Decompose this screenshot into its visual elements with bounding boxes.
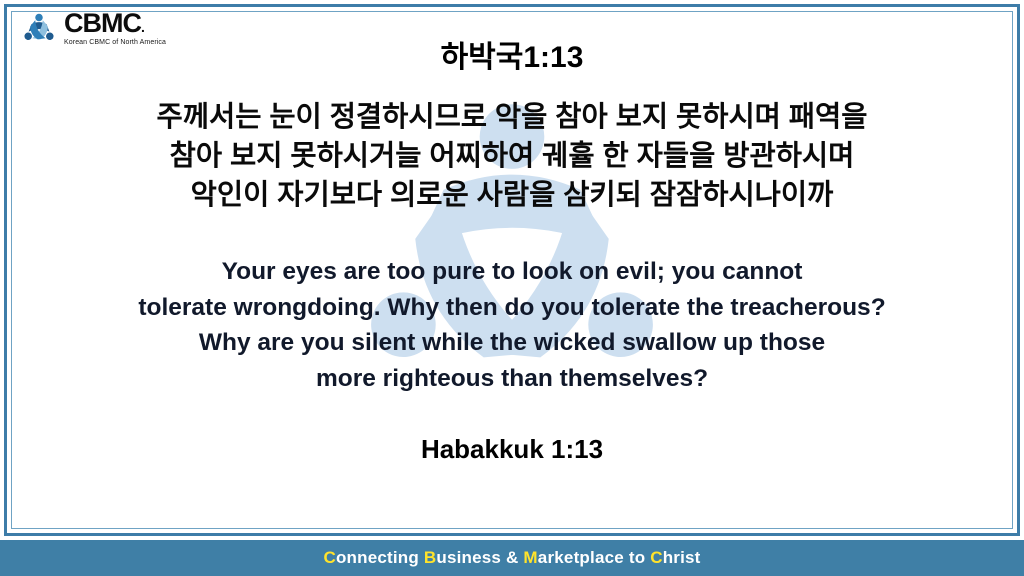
english-line: Your eyes are too pure to look on evil; … [8, 254, 1016, 290]
footer-word: hrist [663, 548, 701, 567]
footer-word: usiness & [436, 548, 523, 567]
english-line: Why are you silent while the wicked swal… [8, 325, 1016, 361]
verse-text-korean: 주께서는 눈이 정결하시므로 악을 참아 보지 못하시며 패역을 참아 보지 못… [0, 98, 1024, 214]
footer-initial: C [650, 548, 662, 567]
cbmc-logo: CBMC. Korean CBMC of North America [18, 10, 166, 50]
footer-tagline: Connecting Business & Marketplace to Chr… [323, 548, 700, 568]
korean-line: 악인이 자기보다 의로운 사람을 삼키되 잠잠하시나이까 [22, 176, 1002, 215]
english-line: more righteous than themselves? [8, 361, 1016, 397]
footer-word: arketplace to [538, 548, 650, 567]
footer-initial: C [323, 548, 335, 567]
footer-word: onnecting [336, 548, 424, 567]
slide-content: 하박국1:13 주께서는 눈이 정결하시므로 악을 참아 보지 못하시며 패역을… [0, 0, 1024, 465]
slide: CBMC. Korean CBMC of North America 하박국1:… [0, 0, 1024, 576]
cbmc-wordmark: CBMC. [64, 11, 166, 37]
english-line: tolerate wrongdoing. Why then do you tol… [8, 290, 1016, 326]
verse-attribution: Habakkuk 1:13 [0, 434, 1024, 465]
footer-bar: Connecting Business & Marketplace to Chr… [0, 540, 1024, 576]
cbmc-logo-subtitle: Korean CBMC of North America [64, 39, 166, 46]
verse-text-english: Your eyes are too pure to look on evil; … [0, 254, 1024, 396]
cbmc-wordmark-text: CBMC [64, 8, 141, 38]
footer-initial: M [523, 548, 537, 567]
korean-line: 주께서는 눈이 정결하시므로 악을 참아 보지 못하시며 패역을 [22, 98, 1002, 137]
cbmc-wordmark-period: . [141, 19, 144, 35]
korean-line: 참아 보지 못하시거늘 어찌하여 궤휼 한 자들을 방관하시며 [22, 137, 1002, 176]
footer-initial: B [424, 548, 436, 567]
cbmc-logo-mark-icon [18, 10, 60, 50]
